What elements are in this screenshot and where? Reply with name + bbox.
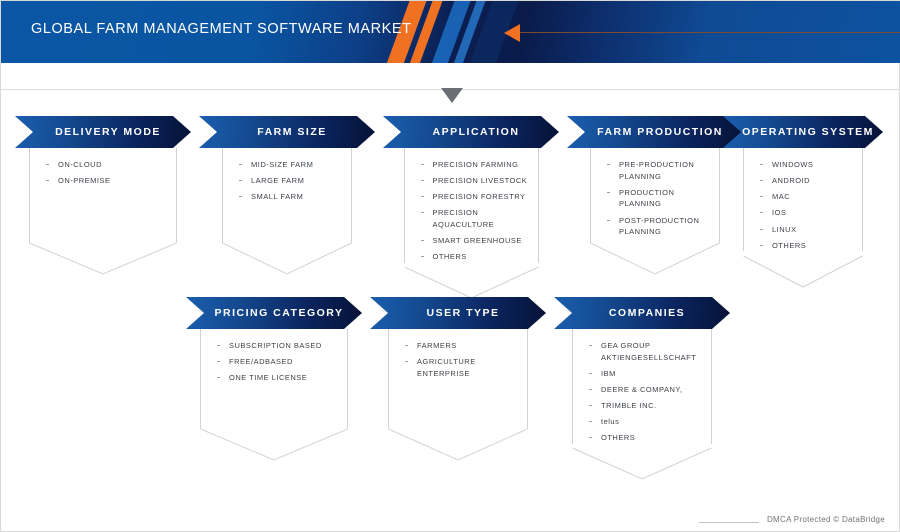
chevron-down-icon: [441, 88, 463, 103]
list-item: PRECISION AQUACULTURE: [419, 207, 532, 230]
segment-card[interactable]: FARM SIZEMID-SIZE FARMLARGE FARMSMALL FA…: [199, 116, 375, 275]
list-item: POST-PRODUCTION PLANNING: [605, 215, 713, 238]
segment-body: SUBSCRIPTION BASEDFREE/ADBASEDONE TIME L…: [200, 329, 348, 429]
list-item: ONE TIME LICENSE: [215, 372, 341, 384]
list-item: OTHERS: [419, 251, 532, 263]
list-item: MID-SIZE FARM: [237, 159, 345, 171]
segment-title: PRICING CATEGORY: [204, 307, 343, 319]
page-header: GLOBAL FARM MANAGEMENT SOFTWARE MARKET: [1, 1, 900, 63]
segment-title: FARM PRODUCTION: [587, 126, 723, 138]
list-item: IOS: [758, 207, 856, 219]
list-item: ON-CLOUD: [44, 159, 170, 171]
list-item: ANDROID: [758, 175, 856, 187]
segment-title: DELIVERY MODE: [45, 126, 161, 138]
segment-body: PRE-PRODUCTION PLANNINGPRODUCTION PLANNI…: [590, 148, 720, 243]
segment-body: MID-SIZE FARMLARGE FARMSMALL FARM: [222, 148, 352, 243]
list-item: SMART GREENHOUSE: [419, 235, 532, 247]
list-item: SMALL FARM: [237, 191, 345, 203]
segment-bottom-tip: [590, 243, 720, 275]
infographic-page: GLOBAL FARM MANAGEMENT SOFTWARE MARKET D…: [0, 0, 900, 532]
list-item: OTHERS: [587, 432, 705, 444]
list-item: ON-PREMISE: [44, 175, 170, 187]
list-item: PRODUCTION PLANNING: [605, 187, 713, 210]
segment-item-list: WINDOWSANDROIDMACIOSLINUXOTHERS: [758, 159, 856, 251]
list-item: PRECISION FORESTRY: [419, 191, 532, 203]
list-item: WINDOWS: [758, 159, 856, 171]
segment-bottom-tip: [572, 448, 712, 480]
segment-title: APPLICATION: [423, 126, 520, 138]
list-item: TRIMBLE INC.: [587, 400, 705, 412]
list-item: DEERE & COMPANY,: [587, 384, 705, 396]
segment-item-list: ON-CLOUDON-PREMISE: [44, 159, 170, 187]
segment-card[interactable]: DELIVERY MODEON-CLOUDON-PREMISE: [15, 116, 191, 275]
list-item: PRE-PRODUCTION PLANNING: [605, 159, 713, 182]
segment-card[interactable]: APPLICATIONPRECISION FARMINGPRECISION LI…: [383, 116, 559, 299]
segment-banner[interactable]: COMPANIES: [554, 297, 730, 329]
segment-banner[interactable]: DELIVERY MODE: [15, 116, 191, 148]
segment-body: WINDOWSANDROIDMACIOSLINUXOTHERS: [743, 148, 863, 251]
list-item: FREE/ADBASED: [215, 356, 341, 368]
segment-item-list: MID-SIZE FARMLARGE FARMSMALL FARM: [237, 159, 345, 203]
segment-body: ON-CLOUDON-PREMISE: [29, 148, 177, 243]
segment-item-list: PRECISION FARMINGPRECISION LIVESTOCKPREC…: [419, 159, 532, 263]
list-item: LARGE FARM: [237, 175, 345, 187]
segment-banner[interactable]: PRICING CATEGORY: [186, 297, 362, 329]
segment-bottom-tip: [404, 267, 539, 299]
segment-card[interactable]: COMPANIESGEA GROUP AKTIENGESELLSCHAFTIBM…: [554, 297, 730, 480]
segment-card[interactable]: USER TYPEFARMERSAGRICULTURE ENTERPRISE: [370, 297, 546, 461]
segment-bottom-tip: [29, 243, 177, 275]
list-item: PRECISION LIVESTOCK: [419, 175, 532, 187]
list-item: AGRICULTURE ENTERPRISE: [403, 356, 521, 379]
segment-title: USER TYPE: [416, 307, 499, 319]
segment-body: GEA GROUP AKTIENGESELLSCHAFTIBMDEERE & C…: [572, 329, 712, 444]
list-item: MAC: [758, 191, 856, 203]
segment-banner[interactable]: FARM SIZE: [199, 116, 375, 148]
segment-banner[interactable]: USER TYPE: [370, 297, 546, 329]
segment-title: COMPANIES: [599, 307, 685, 319]
segment-body: FARMERSAGRICULTURE ENTERPRISE: [388, 329, 528, 429]
segment-item-list: FARMERSAGRICULTURE ENTERPRISE: [403, 340, 521, 379]
segment-item-list: SUBSCRIPTION BASEDFREE/ADBASEDONE TIME L…: [215, 340, 341, 384]
segment-banner[interactable]: FARM PRODUCTION: [567, 116, 743, 148]
footer-rule: [699, 522, 759, 523]
list-item: PRECISION FARMING: [419, 159, 532, 171]
list-item: IBM: [587, 368, 705, 380]
segment-banner[interactable]: APPLICATION: [383, 116, 559, 148]
segment-item-list: GEA GROUP AKTIENGESELLSCHAFTIBMDEERE & C…: [587, 340, 705, 444]
footer-credit: DMCA Protected © DataBridge: [767, 515, 885, 524]
segment-banner[interactable]: OPERATING SYSTEM: [723, 116, 883, 148]
segment-card[interactable]: OPERATING SYSTEMWINDOWSANDROIDMACIOSLINU…: [723, 116, 883, 288]
arrow-rule: [520, 32, 900, 33]
segment-bottom-tip: [388, 429, 528, 461]
page-title: GLOBAL FARM MANAGEMENT SOFTWARE MARKET: [31, 21, 412, 37]
segment-bottom-tip: [222, 243, 352, 275]
list-item: FARMERS: [403, 340, 521, 352]
segment-body: PRECISION FARMINGPRECISION LIVESTOCKPREC…: [404, 148, 539, 263]
segment-card[interactable]: PRICING CATEGORYSUBSCRIPTION BASEDFREE/A…: [186, 297, 362, 461]
segment-item-list: PRE-PRODUCTION PLANNINGPRODUCTION PLANNI…: [605, 159, 713, 238]
segment-bottom-tip: [743, 256, 863, 288]
left-arrow-icon: [504, 24, 520, 42]
list-item: GEA GROUP AKTIENGESELLSCHAFT: [587, 340, 705, 363]
segment-card[interactable]: FARM PRODUCTIONPRE-PRODUCTION PLANNINGPR…: [567, 116, 743, 275]
list-item: SUBSCRIPTION BASED: [215, 340, 341, 352]
list-item: LINUX: [758, 224, 856, 236]
list-item: OTHERS: [758, 240, 856, 252]
segment-title: OPERATING SYSTEM: [732, 126, 874, 138]
list-item: telus: [587, 416, 705, 428]
segment-title: FARM SIZE: [247, 126, 327, 138]
segment-bottom-tip: [200, 429, 348, 461]
